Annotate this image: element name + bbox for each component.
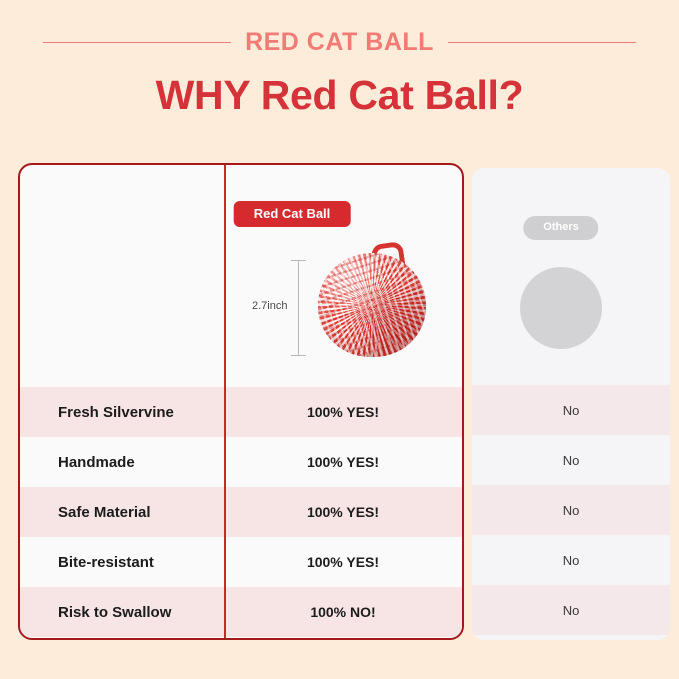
ball-body (318, 253, 426, 357)
product-value: 100% YES! (224, 554, 462, 570)
dimension-cap-top (291, 260, 306, 261)
others-cell: No (472, 403, 670, 418)
product-value: 100% YES! (224, 504, 462, 520)
product-value: 100% NO! (224, 604, 462, 620)
others-rows: No No No No No (472, 385, 670, 635)
feature-label: Bite-resistant (20, 554, 224, 571)
dimension-cap-bottom (291, 355, 306, 356)
table-row: No (472, 535, 670, 585)
product-value: 100% YES! (224, 404, 462, 420)
others-cell: No (472, 603, 670, 618)
table-row: Safe Material 100% YES! (20, 487, 462, 537)
table-row: No (472, 435, 670, 485)
others-placeholder-circle-icon (520, 267, 602, 349)
table-row: Risk to Swallow 100% NO! (20, 587, 462, 637)
feature-label: Safe Material (20, 504, 224, 521)
dimension-indicator: 2.7inch (256, 260, 312, 356)
eyebrow-row: RED CAT BALL (0, 26, 679, 58)
eyebrow-rule-left (43, 42, 231, 43)
product-comparison-panel: Red Cat Ball 2.7inch Fresh Silvervine 10… (18, 163, 464, 640)
dimension-label: 2.7inch (252, 300, 287, 312)
dimension-line (298, 260, 299, 356)
table-row: No (472, 385, 670, 435)
product-showcase: Red Cat Ball 2.7inch (20, 165, 462, 387)
product-rows: Fresh Silvervine 100% YES! Handmade 100%… (20, 387, 462, 637)
others-badge: Others (523, 216, 598, 240)
product-badge: Red Cat Ball (234, 201, 351, 227)
page-title: WHY Red Cat Ball? (0, 73, 679, 118)
eyebrow-rule-right (448, 42, 636, 43)
feature-label: Risk to Swallow (20, 604, 224, 621)
product-image-red-cat-ball (314, 243, 432, 359)
product-value: 100% YES! (224, 454, 462, 470)
table-row: No (472, 485, 670, 535)
others-cell: No (472, 453, 670, 468)
ball-texture (318, 253, 426, 357)
table-row: Bite-resistant 100% YES! (20, 537, 462, 587)
eyebrow-text: RED CAT BALL (245, 30, 434, 55)
others-cell: No (472, 553, 670, 568)
others-cell: No (472, 503, 670, 518)
feature-label: Handmade (20, 454, 224, 471)
column-divider (224, 165, 226, 640)
others-panel: Others No No No No No (472, 168, 670, 640)
header: RED CAT BALL WHY Red Cat Ball? (0, 0, 679, 150)
table-row: Fresh Silvervine 100% YES! (20, 387, 462, 437)
table-row: Handmade 100% YES! (20, 437, 462, 487)
feature-label: Fresh Silvervine (20, 404, 224, 421)
table-row: No (472, 585, 670, 635)
